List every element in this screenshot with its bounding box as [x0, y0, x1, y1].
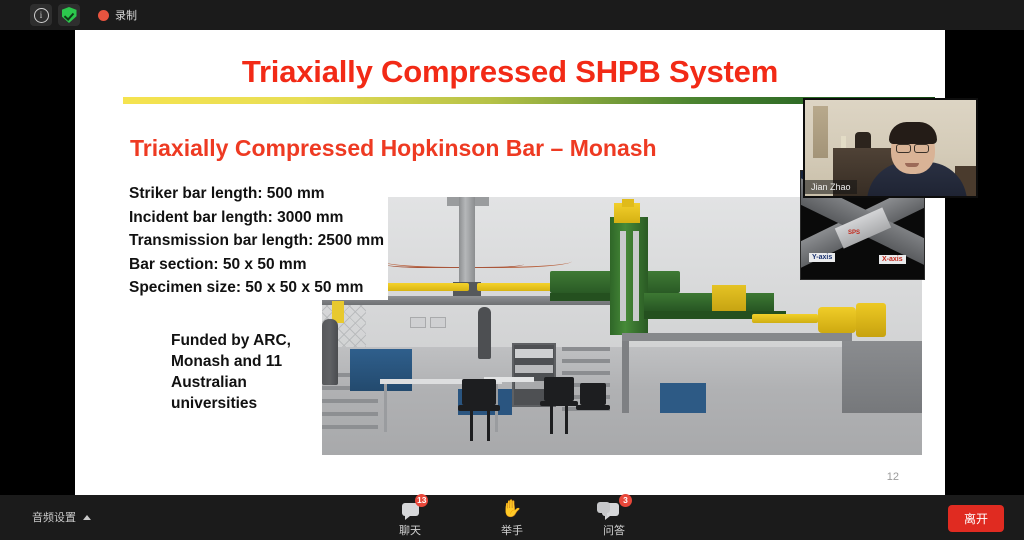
funding-note: Funded by ARC, Monash and 11 Australian …: [171, 330, 331, 414]
slide-subtitle: Triaxially Compressed Hopkinson Bar – Mo…: [130, 135, 657, 162]
photo-tower-rod: [633, 231, 639, 321]
photo-yellow-drum: [818, 307, 856, 333]
photo-chair: [462, 379, 496, 405]
photo-tower-rod: [620, 231, 626, 321]
shield-check-icon: [62, 7, 77, 23]
photo-chair: [580, 383, 606, 405]
specimen-label: SPS: [845, 229, 863, 237]
raise-hand-icon: ✋: [483, 498, 541, 520]
specs-list: Striker bar length: 500 mm Incident bar …: [129, 182, 388, 300]
photo-tower-yellow-top: [622, 199, 634, 207]
info-icon: i: [34, 8, 49, 23]
photo-blue-machine: [660, 383, 706, 413]
chat-bubble-icon: 13: [381, 498, 439, 520]
video-glasses-left: [896, 144, 911, 153]
photo-chair: [576, 405, 610, 410]
participant-video-tile[interactable]: Jian Zhao: [803, 98, 978, 198]
photo-chair-legs: [550, 406, 568, 434]
video-wall-art: [813, 106, 828, 158]
tab-chat[interactable]: 13 聊天: [381, 498, 439, 538]
photo-wall-socket: [430, 317, 446, 328]
participant-name-label: Jian Zhao: [805, 180, 857, 194]
encryption-shield-button[interactable]: [58, 4, 80, 26]
meeting-top-bar: i 录制: [0, 0, 1024, 30]
x-axis-label: X-axis: [879, 255, 906, 264]
spec-item: Specimen size: 50 x 50 x 50 mm: [129, 276, 384, 300]
photo-green-tower: [610, 217, 648, 335]
qa-label: 问答: [585, 522, 643, 538]
photo-ceiling-column: [459, 197, 475, 285]
tab-qa[interactable]: 3 问答: [585, 498, 643, 538]
photo-yellow-drum: [856, 303, 886, 337]
photo-wall-socket: [410, 317, 426, 328]
video-glasses-right: [914, 144, 929, 153]
photo-rack-shelf: [515, 349, 553, 358]
record-dot-icon: [98, 10, 109, 21]
photo-rack-shelf: [515, 365, 553, 373]
meeting-bottom-toolbar: 音频设置 13 聊天 ✋ 举手 3: [0, 495, 1024, 540]
photo-platform-legs: [622, 341, 852, 413]
chevron-up-icon[interactable]: [83, 515, 91, 520]
video-person-mouth: [905, 163, 919, 167]
toolbar-center-tools: 13 聊天 ✋ 举手 3 问答: [381, 498, 643, 538]
audio-settings-button[interactable]: 音频设置: [32, 509, 91, 525]
photo-yellow-housing: [712, 285, 746, 311]
video-person-hair: [889, 122, 937, 144]
spec-item: Incident bar length: 3000 mm: [129, 206, 384, 230]
photo-gas-cylinder: [478, 307, 491, 359]
spec-item: Striker bar length: 500 mm: [129, 182, 384, 206]
qa-unread-badge: 3: [619, 494, 632, 507]
page-title: Triaxially Compressed SHPB System: [75, 54, 945, 90]
leave-meeting-button[interactable]: 离开: [948, 505, 1004, 532]
spec-item: Bar section: 50 x 50 mm: [129, 253, 384, 277]
raise-hand-label: 举手: [483, 522, 541, 538]
photo-chair: [544, 377, 574, 401]
photo-platform-deck: [622, 333, 852, 341]
recording-indicator[interactable]: 录制: [98, 7, 137, 23]
photo-yellow-bar-right: [752, 314, 818, 323]
y-axis-label: Y-axis: [809, 253, 835, 262]
zoom-meeting-window: i 录制 Triaxially Compressed SHPB System T…: [0, 0, 1024, 540]
photo-cable: [384, 255, 524, 268]
meeting-info-button[interactable]: i: [30, 4, 52, 26]
photo-chair-legs: [470, 411, 490, 441]
tab-raise-hand[interactable]: ✋ 举手: [483, 498, 541, 538]
recording-label: 录制: [115, 7, 137, 23]
slide-number: 12: [887, 471, 899, 483]
qa-bubbles-icon: 3: [585, 498, 643, 520]
chat-label: 聊天: [381, 522, 439, 538]
chat-unread-badge: 13: [415, 494, 428, 507]
photo-gray-cabinet: [842, 341, 922, 413]
photo-green-arm: [644, 293, 774, 311]
spec-item: Transmission bar length: 2500 mm: [129, 229, 384, 253]
audio-settings-label: 音频设置: [32, 509, 76, 525]
